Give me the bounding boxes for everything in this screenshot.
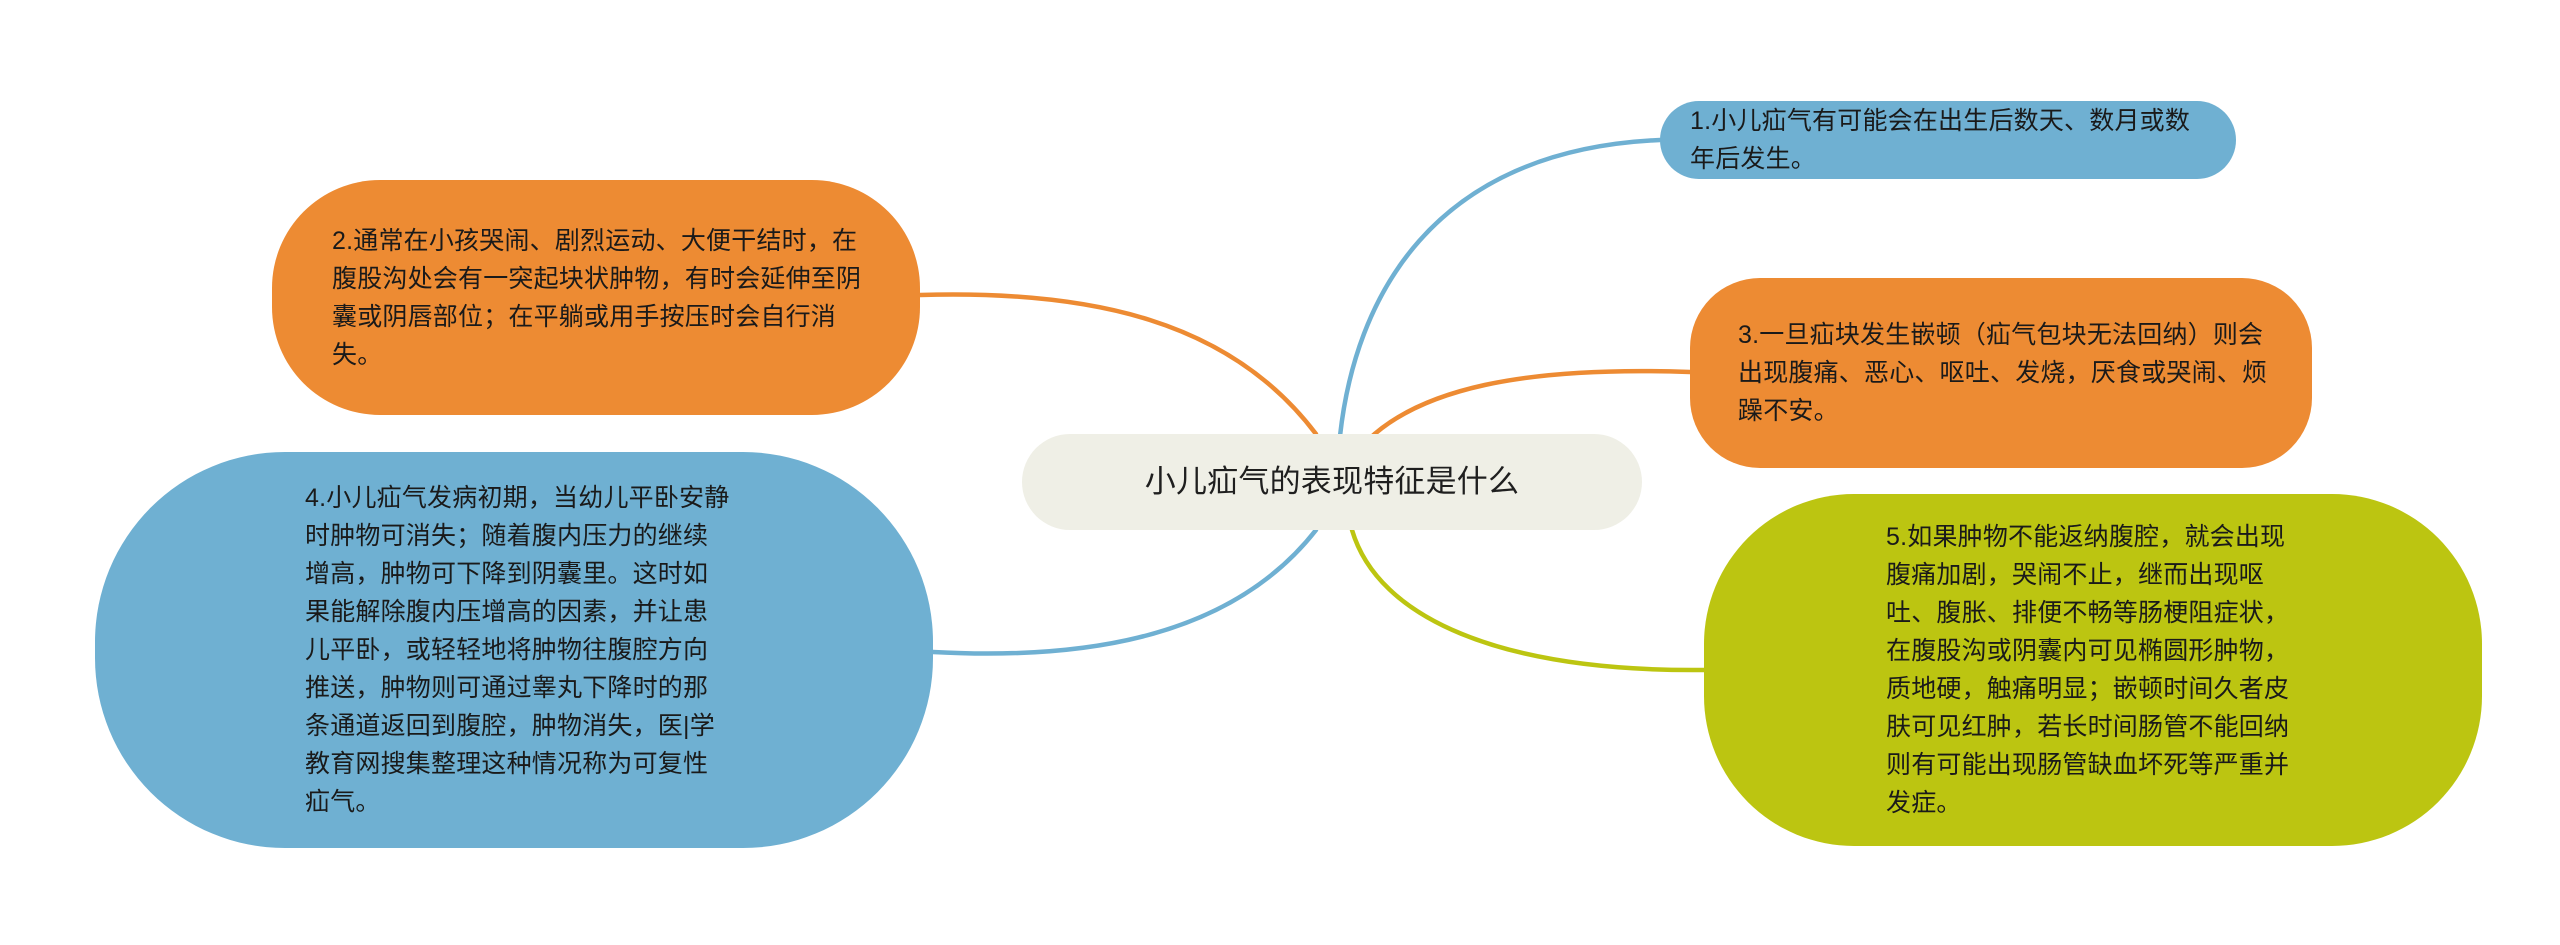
branch-node-2-label: 2.通常在小孩哭闹、剧烈运动、大便干结时，在腹股沟处会有一突起块状肿物，有时会延… (272, 222, 920, 374)
connector-to-branch-1 (1340, 140, 1660, 436)
branch-node-5[interactable]: 5.如果肿物不能返纳腹腔，就会出现腹痛加剧，哭闹不止，继而出现呕吐、腹胀、排便不… (1704, 494, 2482, 846)
mindmap-canvas: 小儿疝气的表现特征是什么 1.小儿疝气有可能会在出生后数天、数月或数年后发生。 … (0, 0, 2560, 945)
branch-node-3[interactable]: 3.一旦疝块发生嵌顿（疝气包块无法回纳）则会出现腹痛、恶心、呕吐、发烧，厌食或哭… (1690, 278, 2312, 468)
connector-to-branch-5 (1352, 530, 1704, 670)
connector-to-branch-2 (920, 294, 1316, 434)
central-topic-label: 小儿疝气的表现特征是什么 (1022, 460, 1642, 504)
branch-node-4[interactable]: 4.小儿疝气发病初期，当幼儿平卧安静时肿物可消失；随着腹内压力的继续增高，肿物可… (95, 452, 933, 848)
branch-node-4-label: 4.小儿疝气发病初期，当幼儿平卧安静时肿物可消失；随着腹内压力的继续增高，肿物可… (95, 479, 933, 821)
connector-to-branch-4 (933, 530, 1316, 654)
connector-to-branch-3 (1368, 371, 1690, 440)
branch-node-2[interactable]: 2.通常在小孩哭闹、剧烈运动、大便干结时，在腹股沟处会有一突起块状肿物，有时会延… (272, 180, 920, 415)
central-topic-node[interactable]: 小儿疝气的表现特征是什么 (1022, 434, 1642, 530)
branch-node-1-label: 1.小儿疝气有可能会在出生后数天、数月或数年后发生。 (1660, 102, 2236, 178)
branch-node-5-label: 5.如果肿物不能返纳腹腔，就会出现腹痛加剧，哭闹不止，继而出现呕吐、腹胀、排便不… (1704, 518, 2482, 822)
branch-node-1[interactable]: 1.小儿疝气有可能会在出生后数天、数月或数年后发生。 (1660, 101, 2236, 179)
branch-node-3-label: 3.一旦疝块发生嵌顿（疝气包块无法回纳）则会出现腹痛、恶心、呕吐、发烧，厌食或哭… (1690, 316, 2312, 430)
